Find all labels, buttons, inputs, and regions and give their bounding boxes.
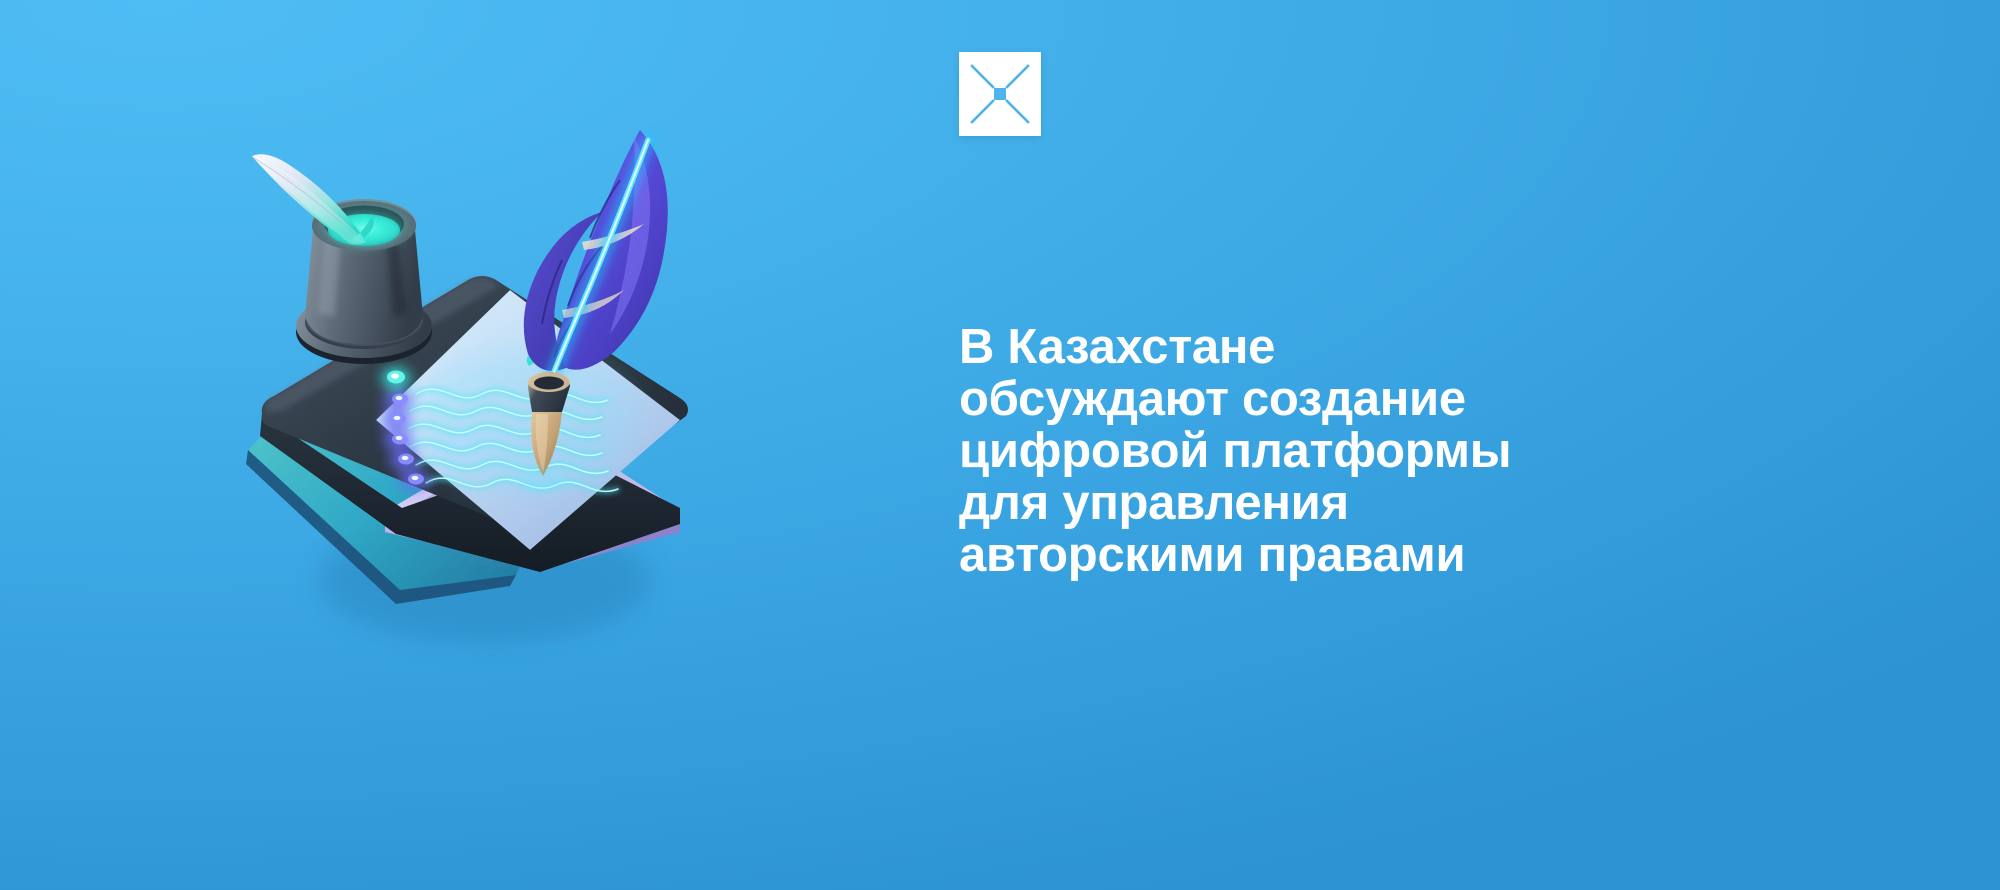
logo[interactable] <box>959 52 1041 136</box>
page-title: В Казахстане обсуждают создание цифровой… <box>959 321 1839 581</box>
hero-illustration <box>210 120 730 630</box>
logo-plate <box>959 52 1041 136</box>
logo-center-square <box>994 88 1006 100</box>
banner-canvas: В Казахстане обсуждают создание цифровой… <box>0 0 2000 890</box>
x-mark-icon <box>959 52 1041 136</box>
inkwell <box>296 199 432 364</box>
